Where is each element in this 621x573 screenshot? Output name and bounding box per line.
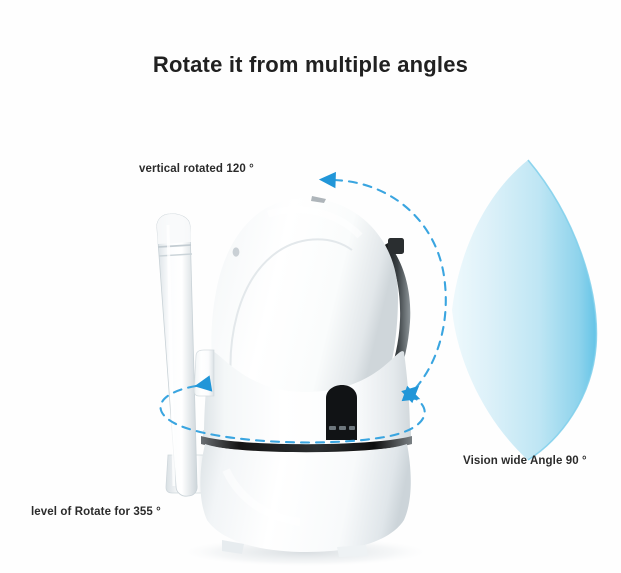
vertical-rotation-arc bbox=[334, 180, 446, 396]
illustration-canvas: Rotate it from multiple angles bbox=[0, 0, 621, 573]
rotating-body bbox=[194, 350, 412, 452]
horizontal-rotation-arc bbox=[161, 386, 425, 442]
camera-illustration bbox=[0, 0, 621, 573]
camera-lens bbox=[382, 238, 410, 396]
ground-shadow bbox=[177, 537, 433, 567]
antenna bbox=[157, 214, 215, 496]
label-vertical-rotation: vertical rotated 120 ° bbox=[139, 163, 254, 175]
label-vision-angle: Vision wide Angle 90 ° bbox=[463, 455, 587, 467]
camera-head-dome bbox=[211, 196, 398, 392]
page-title: Rotate it from multiple angles bbox=[0, 52, 621, 78]
label-level-rotation: level of Rotate for 355 ° bbox=[31, 506, 161, 518]
base-feet bbox=[222, 540, 368, 557]
vision-cone bbox=[452, 160, 596, 460]
trim-ring bbox=[201, 436, 412, 452]
base bbox=[200, 444, 410, 557]
